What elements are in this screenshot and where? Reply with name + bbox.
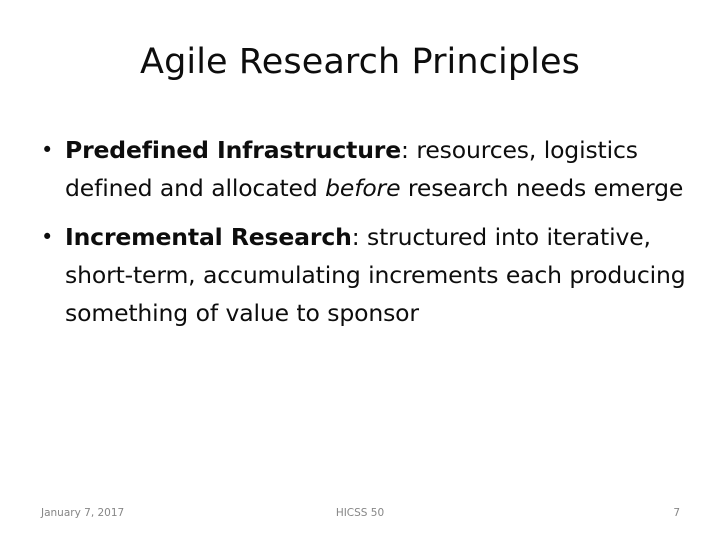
bullet-item-1: • Predefined Infrastructure: resources, …: [38, 131, 686, 207]
bullet-item-1-body-end: research needs emerge: [400, 174, 683, 202]
bullet-item-2-text: Incremental Research: structured into it…: [65, 218, 686, 332]
bullet-item-1-separator: :: [401, 136, 416, 164]
bullet-item-1-emphasis: before: [325, 174, 400, 202]
bullet-point-icon: •: [38, 218, 65, 256]
footer-page-number: 7: [0, 505, 720, 521]
bullet-item-2-separator: :: [352, 223, 367, 251]
bullet-point-icon: •: [38, 131, 65, 169]
bullet-item-1-text: Predefined Infrastructure: resources, lo…: [65, 131, 686, 207]
presentation-slide: Agile Research Principles • Predefined I…: [0, 0, 720, 540]
slide-title: Agile Research Principles: [40, 42, 680, 82]
slide-body-content: • Predefined Infrastructure: resources, …: [38, 131, 686, 332]
slide-footer: January 7, 2017 HICSS 50 7: [0, 505, 720, 529]
bullet-item-2: • Incremental Research: structured into …: [38, 218, 686, 332]
bullet-item-2-lead: Incremental Research: [65, 223, 352, 251]
bullet-item-1-lead: Predefined Infrastructure: [65, 136, 401, 164]
